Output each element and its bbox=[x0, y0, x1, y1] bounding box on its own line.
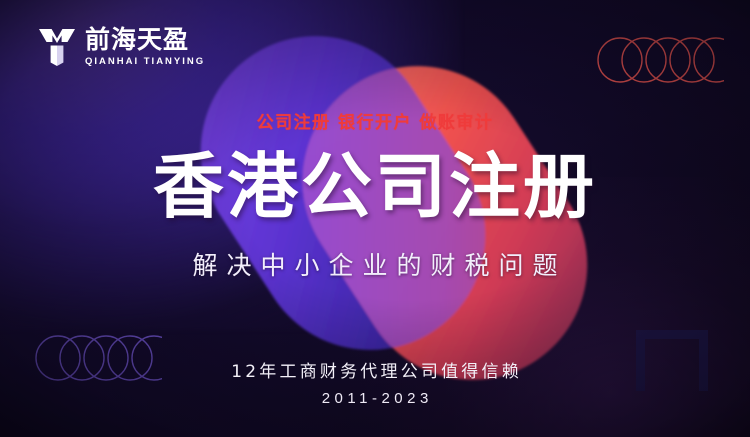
y-mark-icon bbox=[38, 26, 76, 68]
trust-tagline: 12年工商财务代理公司值得信赖 bbox=[0, 357, 750, 382]
services-kicker: 公司注册 银行开户 做账审计 bbox=[0, 108, 750, 133]
marketing-banner: 前海天盈 QIANHAI TIANYING 公司注册 银行开户 做账审计 香港公… bbox=[0, 0, 750, 437]
brand-name-en: QIANHAI TIANYING bbox=[85, 57, 205, 67]
years-range: 2011-2023 bbox=[0, 390, 750, 407]
brand-logo-wordmark: 前海天盈 QIANHAI TIANYING bbox=[85, 27, 205, 67]
brand-name-cn: 前海天盈 bbox=[85, 27, 205, 52]
subheadline: 解决中小企业的财税问题 bbox=[0, 246, 750, 282]
headline: 香港公司注册 bbox=[0, 150, 750, 225]
brand-logo[interactable]: 前海天盈 QIANHAI TIANYING bbox=[38, 26, 205, 68]
